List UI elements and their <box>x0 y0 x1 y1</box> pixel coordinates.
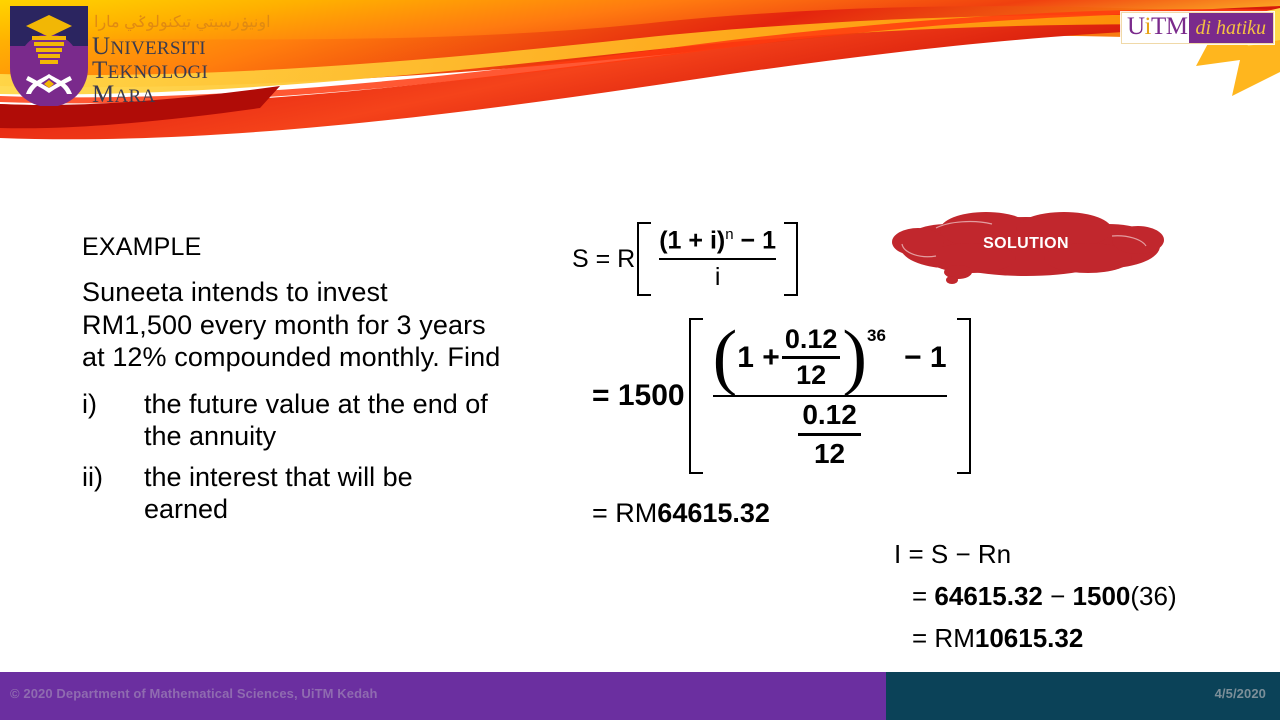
interest-amount: 10615.32 <box>975 623 1083 653</box>
minus-sign: − <box>1050 581 1065 611</box>
periods-term: (36) <box>1130 581 1176 611</box>
rate-denominator: 12 <box>793 360 829 391</box>
jawi-script-text: اونيۏرسيتي تيكنولوݢي مارا <box>94 12 271 32</box>
bracket-left <box>689 318 703 474</box>
formula-equals-coefficient: = 1500 <box>592 318 689 474</box>
equals-sign: = <box>912 623 927 653</box>
fraction-bar <box>659 258 776 260</box>
footer-copyright: © 2020 Department of Mathematical Scienc… <box>10 686 378 701</box>
university-line-1: UNIVERSITI <box>92 34 206 59</box>
currency-label: RM <box>934 623 974 653</box>
uitm-brand-text: UiTM <box>1122 13 1190 43</box>
interest-calculation-block: I = S − Rn = 64615.32 − 1500(36) = RM106… <box>894 533 1177 659</box>
denominator-fraction: 0.12 12 <box>798 399 861 470</box>
list-marker: i) <box>82 388 144 453</box>
fraction-bar <box>782 356 841 359</box>
uitm-crest-icon <box>10 6 88 106</box>
fraction-bar <box>798 433 861 436</box>
currency-label: RM <box>615 498 657 528</box>
example-text-block: EXAMPLE Suneeta intends to invest RM1,50… <box>82 232 502 534</box>
paren-close: ) <box>842 329 867 387</box>
rate-fraction: 0.12 12 <box>782 324 841 391</box>
numerator-expression: ( 1 + 0.12 12 ) 36 − 1 <box>713 324 947 391</box>
list-item: ii) the interest that will be earned <box>82 461 502 526</box>
bracket-left <box>637 222 651 296</box>
future-value-result: = RM64615.32 <box>592 498 770 529</box>
numerator-base: (1 + i) <box>659 226 725 254</box>
coefficient-value: 1500 <box>618 379 685 413</box>
equals-sign: = <box>592 498 608 528</box>
interest-line-2: = 64615.32 − 1500(36) <box>894 575 1177 617</box>
uitm-di-hatiku-logo: UiTM di hatiku <box>1121 12 1274 44</box>
equals-sign: = <box>912 581 927 611</box>
list-item: i) the future value at the end of the an… <box>82 388 502 453</box>
bracket-right <box>957 318 971 474</box>
substituted-formula: = 1500 ( 1 + 0.12 12 ) 36 − 1 0.12 <box>592 318 971 474</box>
rate-numerator: 0.12 <box>782 324 841 355</box>
problem-statement: Suneeta intends to invest RM1,500 every … <box>82 276 502 374</box>
university-wordmark: اونيۏرسيتي تيكنولوݢي مارا UNIVERSITI TEK… <box>92 8 292 104</box>
one-plus: 1 + <box>737 341 780 375</box>
header-banner: اونيۏرسيتي تيكنولوݢي مارا UNIVERSITI TEK… <box>0 0 1280 170</box>
solution-badge: SOLUTION <box>876 206 1176 296</box>
bottom-denominator: 12 <box>810 438 849 470</box>
minus-one: − 1 <box>904 341 947 375</box>
university-line-3: MARA <box>92 82 156 107</box>
exponent-value: 36 <box>867 326 886 346</box>
bottom-numerator: 0.12 <box>798 399 861 431</box>
future-value-term: 64615.32 <box>934 581 1042 611</box>
interest-line-1: I = S − Rn <box>894 533 1177 575</box>
interest-expression: S − Rn <box>931 539 1011 569</box>
bracket-right <box>784 222 798 296</box>
presentation-slide: اونيۏرسيتي تيكنولوݢي مارا UNIVERSITI TEK… <box>0 0 1280 720</box>
footer-date: 4/5/2020 <box>1215 686 1266 701</box>
future-value-amount: 64615.32 <box>657 498 770 528</box>
numerator-tail: − 1 <box>741 226 776 254</box>
list-text: the future value at the end of the annui… <box>144 388 502 453</box>
equals-sign: = <box>908 539 923 569</box>
formula-denominator: i <box>715 263 721 292</box>
general-annuity-formula: S = R (1 + i)n − 1 i <box>572 222 798 296</box>
payment-term: 1500 <box>1073 581 1131 611</box>
interest-symbol: I <box>894 539 901 569</box>
numerator-exponent: n <box>725 226 733 243</box>
equals-sign: = <box>592 379 610 413</box>
example-heading: EXAMPLE <box>82 232 502 262</box>
university-line-2: TEKNOLOGI <box>92 58 208 83</box>
paren-open: ( <box>713 329 738 387</box>
slide-footer: © 2020 Department of Mathematical Scienc… <box>0 672 1280 720</box>
main-fraction-bar <box>713 395 947 397</box>
list-text: the interest that will be earned <box>144 461 502 526</box>
formula-lhs: S = R <box>572 222 637 296</box>
formula-numerator: (1 + i)n − 1 <box>659 226 776 255</box>
solution-label: SOLUTION <box>876 206 1176 282</box>
list-marker: ii) <box>82 461 144 526</box>
di-hatiku-tagline: di hatiku <box>1189 13 1273 43</box>
interest-line-3: = RM10615.32 <box>894 617 1177 659</box>
